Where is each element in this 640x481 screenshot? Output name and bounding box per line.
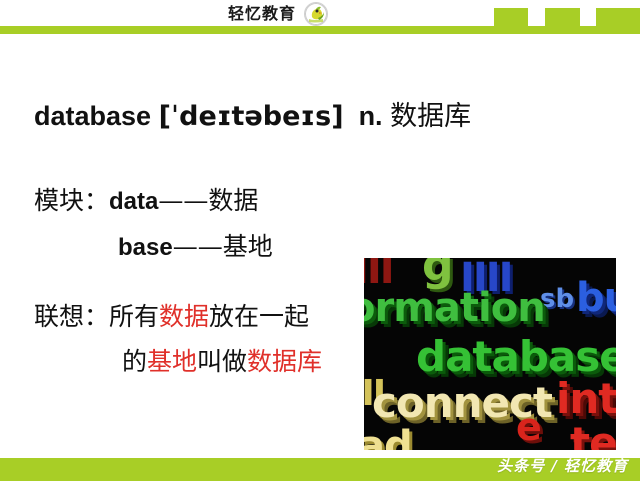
- header-crenel-block-3: [596, 8, 640, 26]
- association-line2-pre: 的: [122, 347, 147, 376]
- module-row-2: base——基地: [34, 224, 273, 270]
- association-row-2: 的基地叫做数据库: [34, 339, 322, 384]
- database-word-cloud-image: III g IIII sb bu ormation database III c…: [364, 258, 616, 450]
- wordcloud-word-g: g: [422, 258, 454, 288]
- wordcloud-word-sb: sb: [540, 286, 574, 312]
- header-green-bar: [0, 26, 640, 34]
- word-title-line: database [ˈdeɪtəbeɪs] n. 数据库: [34, 94, 471, 133]
- association-line2-highlight-1: 基地: [147, 347, 197, 376]
- module-row-1-dash: ——: [158, 186, 208, 215]
- module-section: 模块：data——数据 base——基地: [34, 178, 273, 270]
- header-crenel-block-2: [545, 8, 580, 26]
- footer-watermark: 头条号 / 轻忆教育: [497, 455, 628, 476]
- association-line1-pre: 所有: [109, 302, 159, 331]
- module-row-1: 模块：data——数据: [34, 178, 273, 224]
- wordcloud-word-database: database: [416, 336, 616, 378]
- wordcloud-word-bu: bu: [576, 278, 616, 318]
- ipa-label: [ˈdeɪtəbeɪs]: [159, 101, 344, 132]
- module-row-1-chinese: 数据: [208, 186, 258, 215]
- wordcloud-word-ad: ad: [364, 426, 412, 450]
- header-crenel-block-1: [494, 8, 528, 26]
- association-line1-post: 放在一起: [209, 302, 309, 331]
- wordcloud-word-inte: inte: [556, 378, 616, 420]
- module-row-2-chinese: 基地: [223, 232, 273, 261]
- headword-label: database: [34, 101, 151, 131]
- module-row-2-dash: ——: [173, 232, 223, 261]
- chinese-meaning-label: 数据库: [390, 101, 471, 132]
- association-section: 联想：所有数据放在一起 的基地叫做数据库: [34, 294, 322, 384]
- module-row-1-english: data: [109, 188, 158, 215]
- slide-canvas: 轻忆教育 database [ˈdeɪtəbeɪs] n. 数据库 模块：dat…: [0, 0, 640, 481]
- association-row-1: 联想：所有数据放在一起: [34, 294, 322, 339]
- brand-name-label: 轻忆教育: [228, 6, 296, 22]
- association-line1-highlight: 数据: [159, 302, 209, 331]
- wordcloud-word-information: ormation: [364, 288, 545, 328]
- brand-logo: 轻忆教育: [228, 2, 328, 26]
- association-line2-mid: 叫做: [197, 347, 247, 376]
- wordcloud-word-te: te: [570, 422, 616, 450]
- wordcloud-word-e: e: [516, 408, 542, 446]
- module-section-label: 模块：: [34, 186, 109, 215]
- association-section-label: 联想：: [34, 302, 109, 331]
- part-of-speech-label: n.: [359, 101, 383, 131]
- module-row-2-english: base: [118, 234, 173, 261]
- association-line2-highlight-2: 数据库: [247, 347, 322, 376]
- parrot-mascot-icon: [304, 2, 328, 26]
